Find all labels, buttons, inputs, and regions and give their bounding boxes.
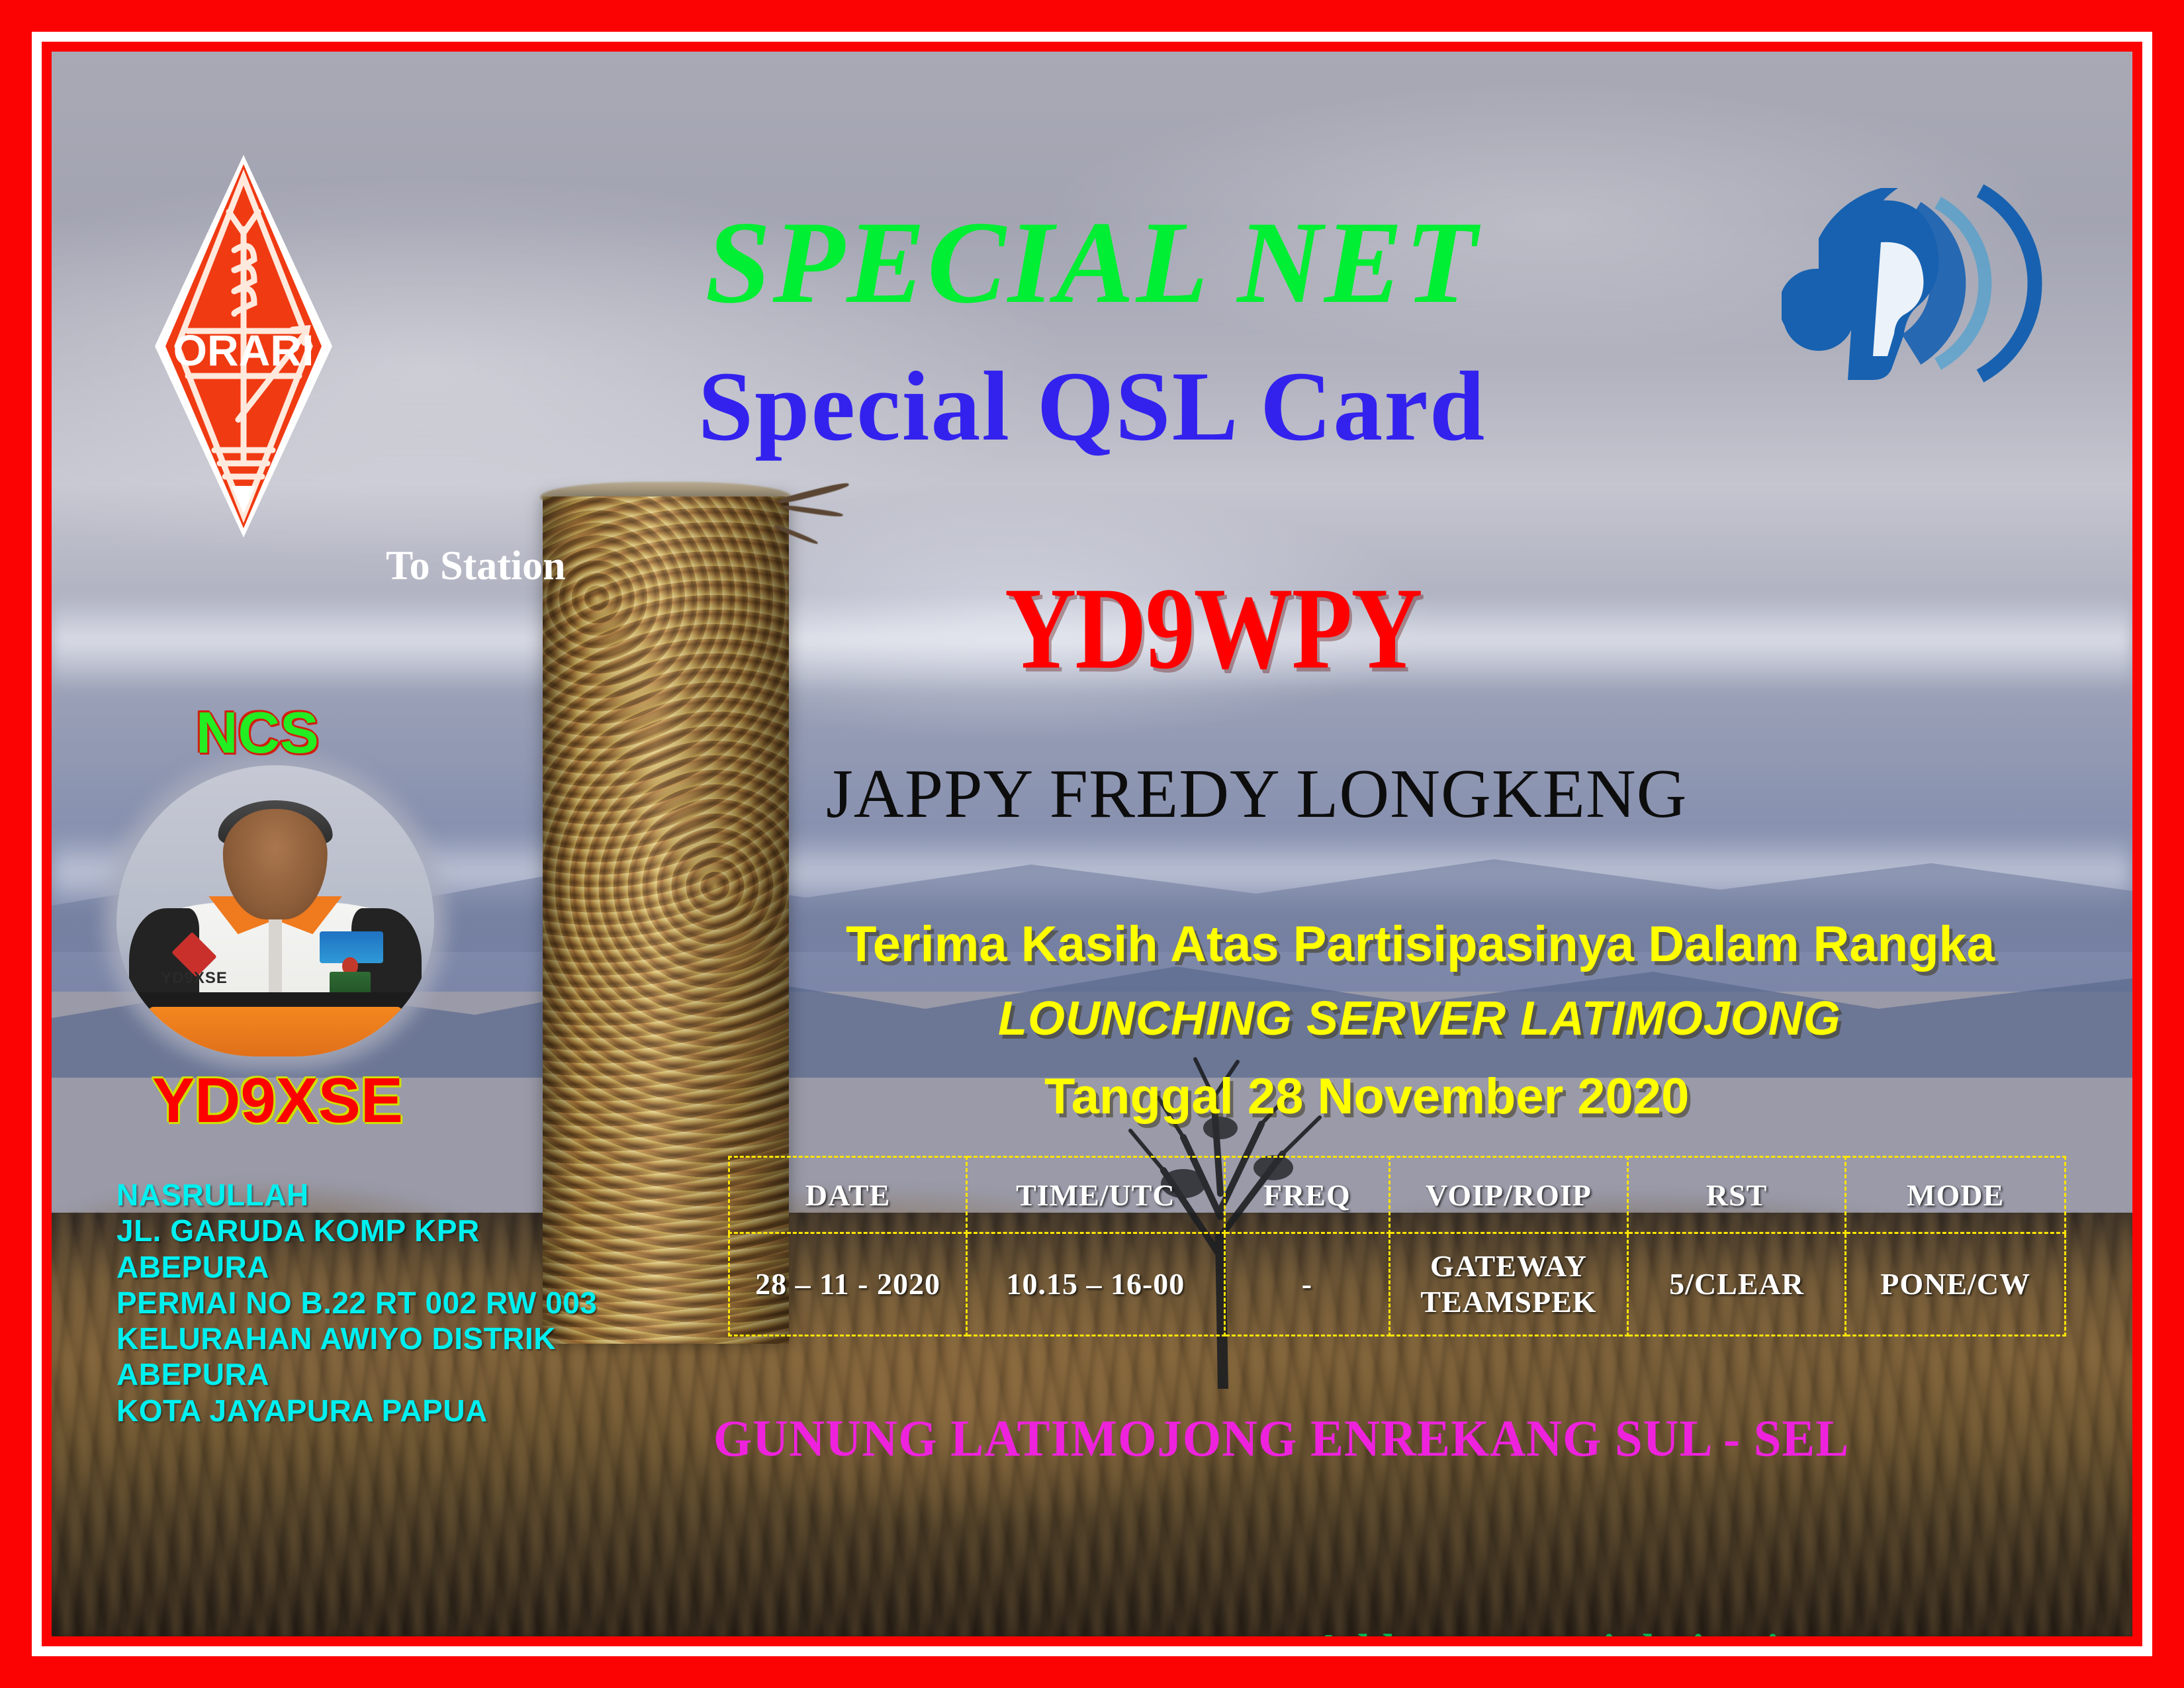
to-station-label: To Station: [386, 543, 566, 590]
address-line: JL. GARUDA KOMP KPR: [116, 1213, 699, 1248]
location-line: GUNUNG LATIMOJONG ENREKANG SUL - SEL: [713, 1409, 1849, 1468]
website-address: Address : amatir.latimojong.com: [1312, 1624, 1939, 1636]
card-title-special-net: SPECIAL NET: [52, 194, 2132, 330]
column-header-time: TIME/UTC: [967, 1157, 1224, 1233]
ncs-operator-photo: YD9XSE: [116, 765, 434, 1056]
column-header-date: DATE: [729, 1157, 967, 1233]
ncs-label: NCS: [196, 699, 319, 767]
cell-date: 28 – 11 - 2020: [729, 1233, 967, 1336]
address-line: KELURAHAN AWIYO DISTRIK: [116, 1321, 699, 1356]
cell-rst: 5/CLEAR: [1627, 1233, 1846, 1336]
address-line: ABEPURA: [116, 1249, 699, 1285]
cell-voip: GATEWAY TEAMSPEK: [1390, 1233, 1628, 1336]
column-header-mode: MODE: [1846, 1157, 2066, 1233]
column-header-rst: RST: [1627, 1157, 1846, 1233]
address-line: PERMAI NO B.22 RT 002 RW 003: [116, 1285, 699, 1321]
column-header-voip: VOIP/ROIP: [1390, 1157, 1628, 1233]
event-line: LOUNCHING SERVER LATIMOJONG: [998, 992, 1841, 1046]
address-line: ABEPURA: [116, 1356, 699, 1392]
photo-shirt-callsign: YD9XSE: [161, 969, 228, 988]
station-callsign: YD9WPY: [1005, 561, 1422, 696]
motto-text: "AMATIR RADIO ADALAH PROGRESIVE": [130, 1627, 1015, 1636]
table-header-row: DATE TIME/UTC FREQ VOIP/ROIP RST MODE: [729, 1157, 2066, 1233]
cell-freq: -: [1224, 1233, 1390, 1336]
date-line: Tanggal 28 November 2020: [1044, 1068, 1689, 1125]
ncs-callsign: YD9XSE: [152, 1064, 403, 1137]
table-row: 28 – 11 - 2020 10.15 – 16-00 - GATEWAY T…: [729, 1233, 2066, 1336]
cell-mode: PONE/CW: [1846, 1233, 2066, 1336]
qso-details-table: DATE TIME/UTC FREQ VOIP/ROIP RST MODE 28…: [728, 1156, 2066, 1336]
card-subtitle-qsl-card: Special QSL Card: [52, 350, 2132, 463]
card-background-photo: ORARI: [52, 52, 2132, 1636]
address-line: NASRULLAH: [116, 1177, 699, 1213]
address-line: KOTA JAYAPURA PAPUA: [116, 1393, 699, 1429]
cell-time: 10.15 – 16-00: [967, 1233, 1224, 1336]
mailing-address-block: NASRULLAH JL. GARUDA KOMP KPR ABEPURA PE…: [116, 1177, 699, 1429]
operator-name: JAPPY FREDY LONGKENG: [826, 753, 1687, 833]
thanks-line: Terima Kasih Atas Partisipasinya Dalam R…: [846, 915, 1995, 973]
qsl-card: ORARI: [0, 0, 2184, 1688]
column-header-freq: FREQ: [1224, 1157, 1390, 1233]
